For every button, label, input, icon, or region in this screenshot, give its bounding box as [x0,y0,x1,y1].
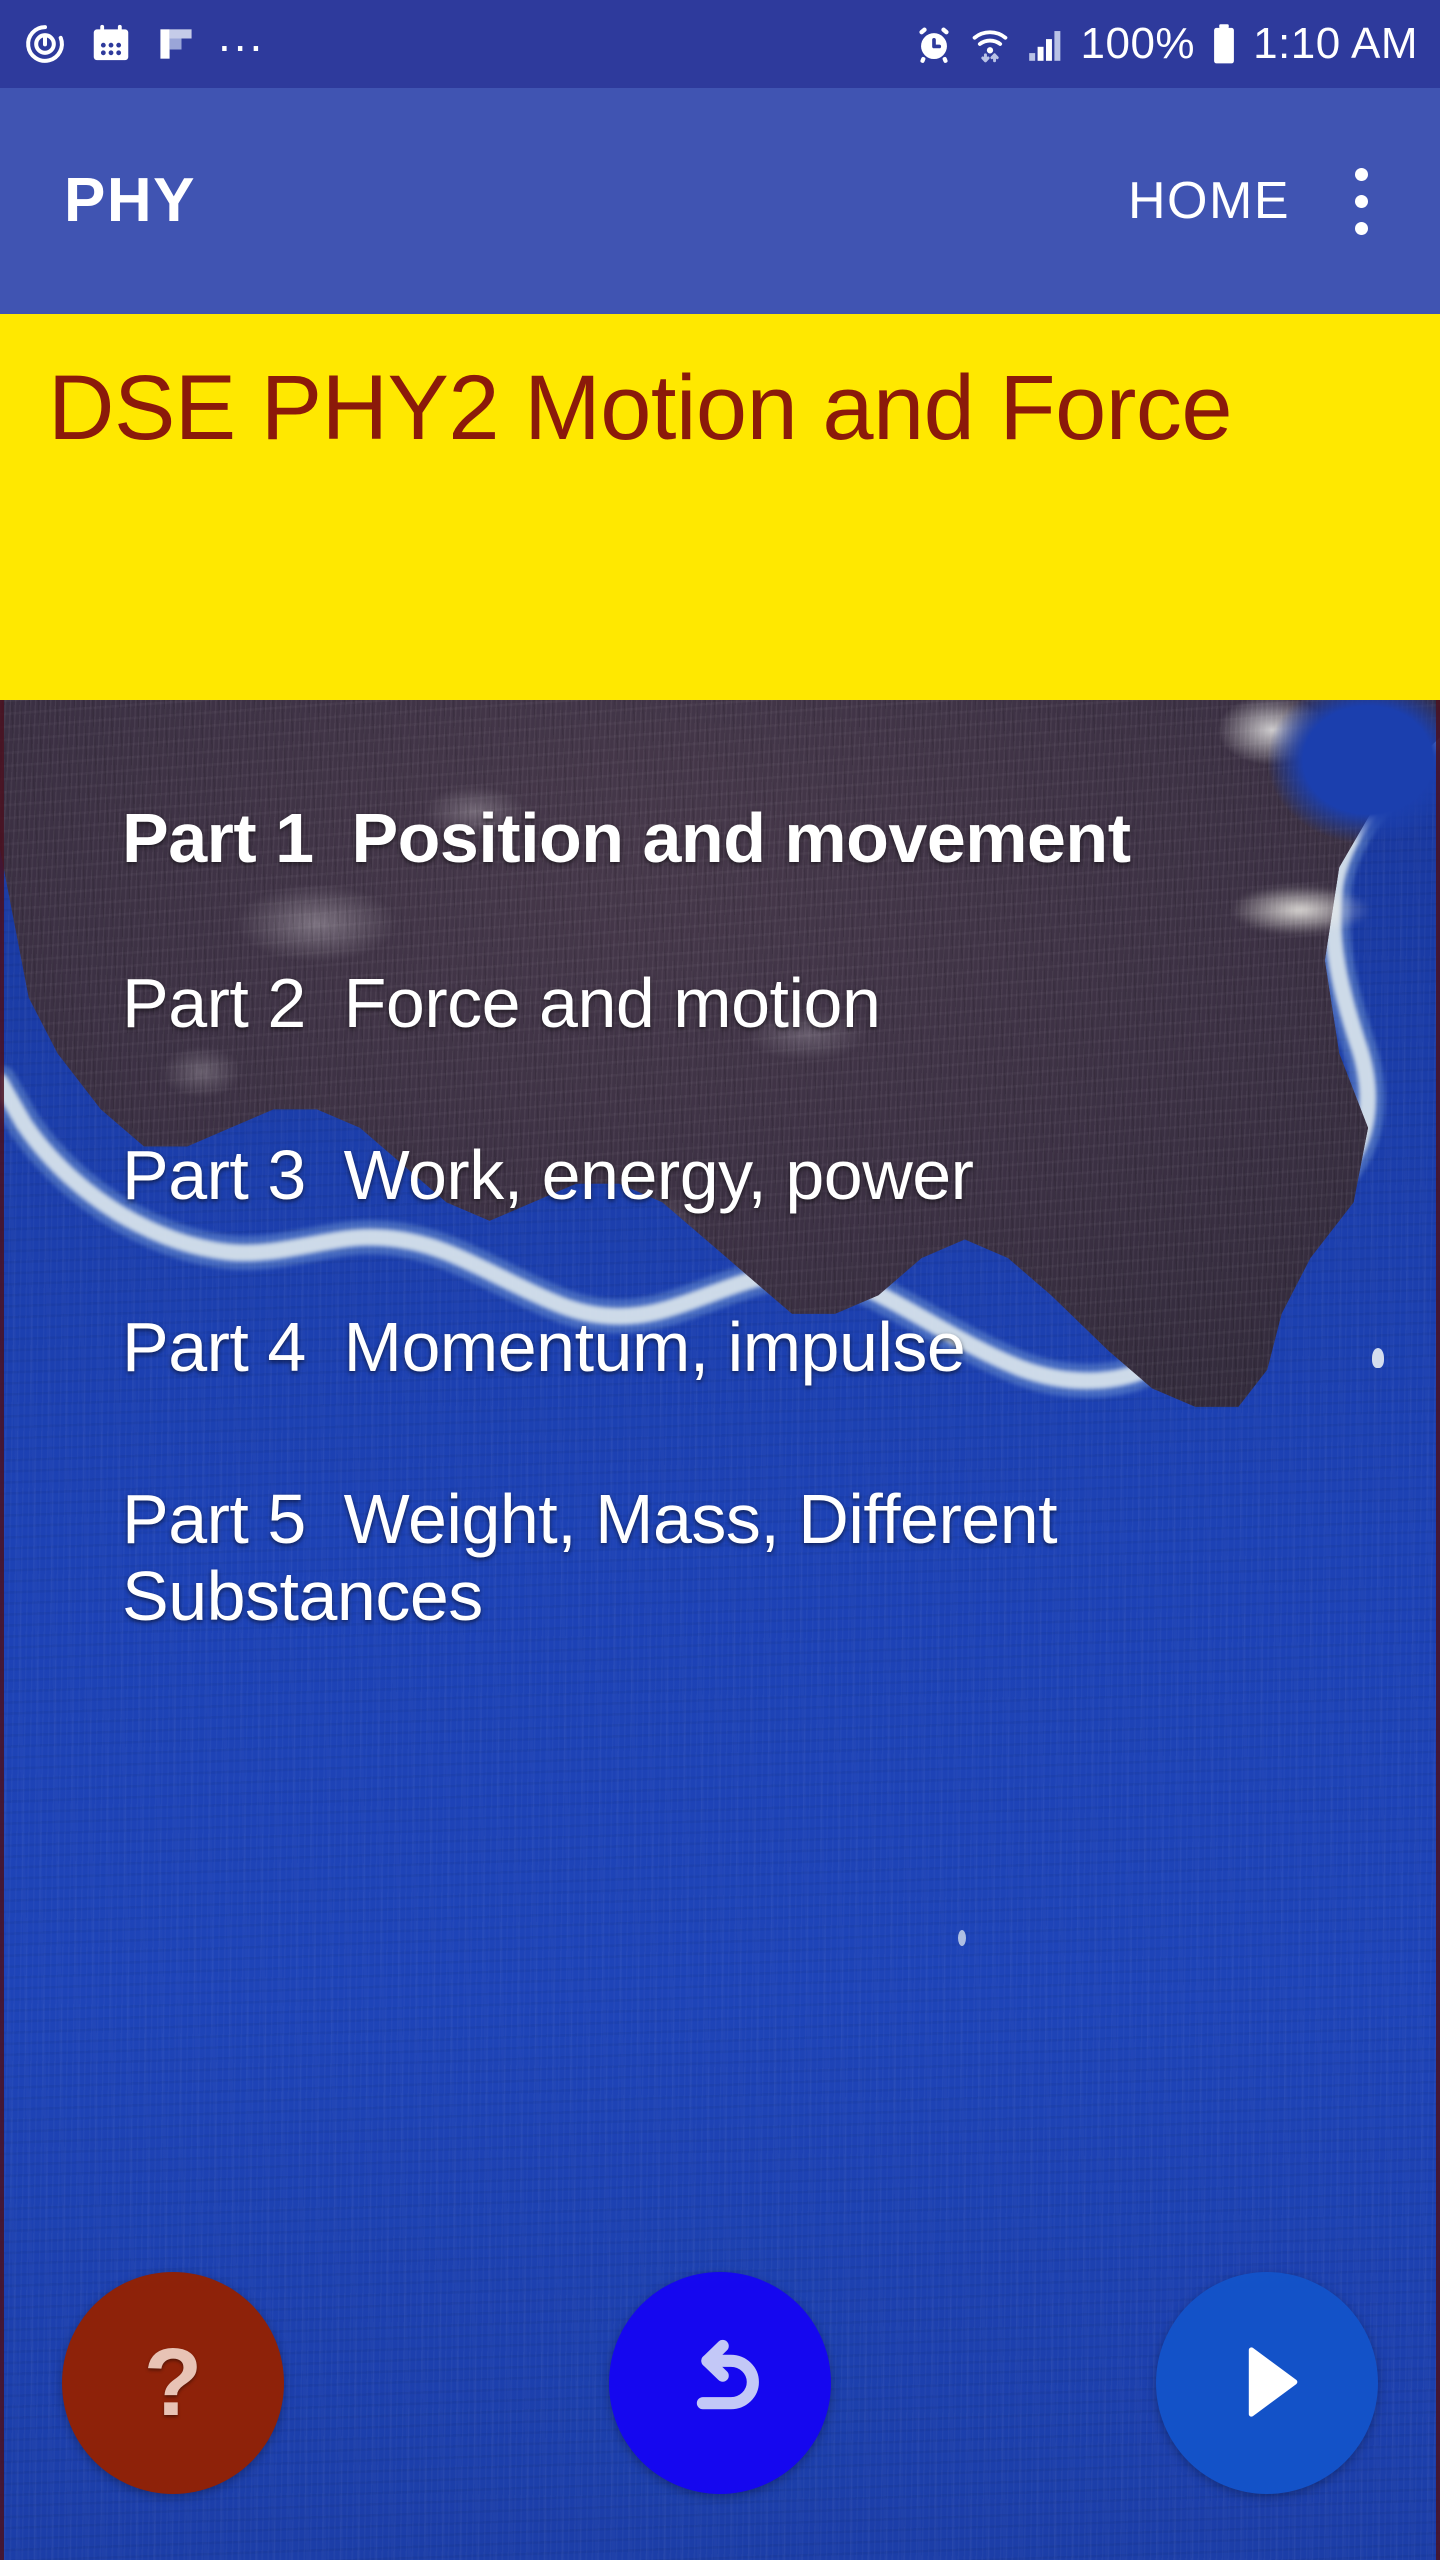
parts-list: Part 1 Position and movement Part 2 Forc… [0,700,1440,1635]
undo-arrow-icon [666,2328,774,2439]
list-item[interactable]: Part 2 Force and motion [122,965,1400,1042]
lesson-title-banner: DSE PHY2 Motion and Force [0,314,1440,700]
list-item[interactable]: Part 1 Position and movement [122,800,1400,877]
wifi-transfer-icon [969,23,1011,65]
list-item[interactable]: Part 3 Work, energy, power [122,1137,1400,1214]
flipboard-icon [154,22,198,66]
list-item[interactable]: Part 5 Weight, Mass, Different Substance… [122,1481,1332,1635]
more-notifications-ellipsis: ... [218,24,265,65]
help-button[interactable]: ? [62,2272,284,2494]
next-button[interactable] [1156,2272,1378,2494]
back-button[interactable] [609,2272,831,2494]
battery-percent-label: 100% [1081,22,1196,66]
app-bar: PHY HOME [0,88,1440,314]
list-item[interactable]: Part 4 Momentum, impulse [122,1309,1400,1386]
action-button-row: ? [0,2272,1440,2502]
status-bar-system-icons: 100% 1:10 AM [913,22,1418,66]
question-mark-icon: ? [144,2335,203,2431]
overflow-menu-icon[interactable] [1330,153,1392,249]
app-title: PHY [64,170,196,232]
content-area: Part 1 Position and movement Part 2 Forc… [0,700,1440,2560]
status-bar: ... [0,0,1440,88]
calendar-icon [88,21,134,67]
play-arrow-icon [1215,2330,1319,2437]
ocean-speck [958,1930,966,1946]
app-screen: ... [0,0,1440,2560]
alarm-clock-icon [913,23,955,65]
power-sync-icon [22,21,68,67]
battery-full-icon [1209,22,1239,66]
home-button[interactable]: HOME [1128,175,1290,227]
cellular-signal-icon [1025,23,1067,65]
app-bar-actions: HOME [1128,153,1392,249]
clock-label: 1:10 AM [1253,22,1418,66]
status-bar-notification-icons: ... [22,21,265,67]
lesson-title: DSE PHY2 Motion and Force [48,354,1388,463]
